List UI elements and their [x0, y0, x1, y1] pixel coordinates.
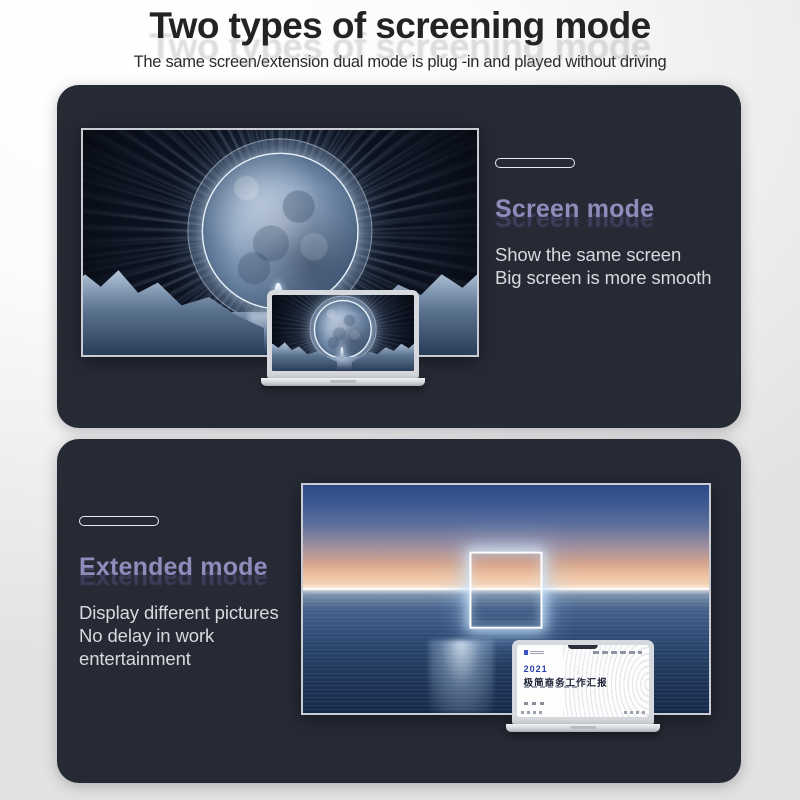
logo-mark-icon	[524, 650, 528, 655]
page-header: Two types of screening mode Two types of…	[0, 0, 800, 84]
laptop-display-surface: 2021 极简商务工作汇报	[517, 645, 649, 717]
extended-mode-title: Extended mode	[79, 553, 268, 582]
accent-pill-icon	[495, 158, 575, 168]
laptop-extended-mode: 2021 极简商务工作汇报	[512, 640, 654, 732]
moon-scene-artwork-mirrored	[272, 295, 414, 371]
accent-pill-icon	[79, 516, 159, 526]
laptop-base	[261, 378, 425, 386]
screen-mode-title: Screen mode	[495, 195, 654, 224]
extended-mode-description: Display different pictures No delay in w…	[79, 601, 329, 670]
laptop-screen-mode	[267, 290, 419, 386]
slide-header-text-placeholder	[593, 651, 643, 654]
laptop-display-surface	[272, 295, 414, 371]
slide-bottom-left	[521, 711, 542, 714]
logo-text-placeholder	[530, 651, 544, 655]
screen-mode-title-container: Screen mode Screen mode	[495, 195, 735, 229]
glowing-square-icon	[469, 552, 542, 629]
slide-year: 2021	[524, 664, 548, 674]
slide-subtext-placeholder	[524, 686, 579, 688]
page-title: Two types of screening mode	[0, 3, 800, 49]
slide-logo-icon	[524, 650, 544, 655]
business-report-slide: 2021 极简商务工作汇报	[517, 645, 649, 717]
panel-extended-mode: Extended mode Extended mode Display diff…	[57, 439, 741, 783]
slide-topbar	[524, 650, 643, 655]
laptop-lid	[267, 290, 419, 378]
laptop-base	[506, 724, 660, 732]
extended-mode-title-container: Extended mode Extended mode	[79, 553, 329, 587]
slide-footer-placeholder	[524, 702, 546, 705]
screen-mode-text-block: Screen mode Screen mode Show the same sc…	[495, 158, 735, 289]
laptop-lid: 2021 极简商务工作汇报	[512, 640, 654, 724]
figure-silhouette-icon	[341, 347, 344, 359]
screen-mode-description: Show the same screen Big screen is more …	[495, 243, 735, 289]
laptop-camera-notch	[568, 645, 598, 649]
panel-screen-mode: Screen mode Screen mode Show the same sc…	[57, 85, 741, 428]
slide-bottom-right	[624, 711, 645, 714]
title-container: Two types of screening mode Two types of…	[0, 3, 800, 51]
slide-bottom-bar	[521, 711, 645, 714]
water-reflection-element	[429, 640, 494, 713]
extended-mode-text-block: Extended mode Extended mode Display diff…	[79, 516, 329, 670]
